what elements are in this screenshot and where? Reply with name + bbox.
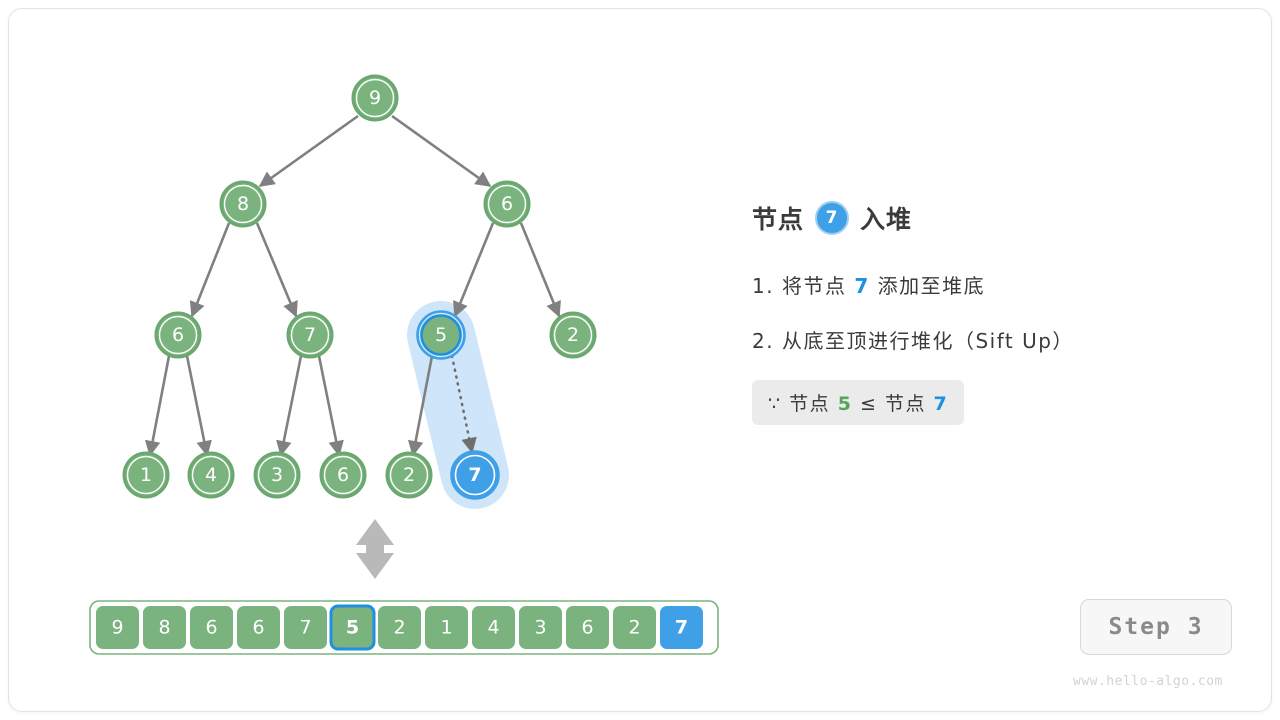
edge-7-3 [281,356,301,455]
panel-title: 节点 7 入堆 [752,200,1222,236]
tree-node-label: 6 [172,324,184,346]
array-cell-label: 8 [158,617,170,639]
array-cell-5[interactable]: 5 [331,606,374,649]
tree-node-label: 3 [271,464,283,486]
panel-title-suffix: 入堆 [860,200,912,236]
tree-node-label: 9 [369,87,381,109]
array-cell-10[interactable]: 6 [566,606,609,649]
step-text-before: 从底至顶进行堆化（Sift Up） [782,329,1074,353]
tree-node-n4[interactable]: 7 [288,313,332,357]
tree-node-label: 8 [237,193,249,215]
edge-6-1 [150,356,169,455]
diagram-stage: 9 8 6 6 7 [0,0,1280,720]
tree-node-label: 6 [337,464,349,486]
array-cell-label: 2 [628,617,640,639]
tree-node-label: 2 [567,324,579,346]
array-cell-label: 7 [299,617,311,639]
note-left-label: 节点 [789,393,830,415]
tree-node-n6[interactable]: 2 [551,313,595,357]
array-cell-label: 6 [252,617,264,639]
edge-7-6b [319,356,339,455]
array-cell-7[interactable]: 1 [425,606,468,649]
tree-node-label: 6 [501,193,513,215]
edge-8-6 [192,223,229,316]
tree-nodes: 9 8 6 6 7 [124,76,595,499]
array-cell-2[interactable]: 6 [190,606,233,649]
edge-6-5 [455,223,493,316]
edge-6-4 [187,356,207,455]
array-cell-label: 6 [581,617,593,639]
explanation-panel: 节点 7 入堆 1. 将节点 7 添加至堆底 2. 从底至顶进行堆化（Sift … [752,200,1222,425]
panel-title-node-badge: 7 [815,201,849,235]
tree-node-n7[interactable]: 1 [124,453,168,497]
array-cell-1[interactable]: 8 [143,606,186,649]
array-cell-label: 4 [487,617,499,639]
step-index: 2. [752,329,774,353]
note-left-value: 5 [838,393,853,415]
tree-node-label: 1 [140,464,152,486]
note-right-value: 7 [934,393,949,415]
edge-8-7 [257,223,296,316]
tree-array-link-arrow [356,519,394,579]
tree-node-n3[interactable]: 6 [156,313,200,357]
edge-9-8 [260,116,358,186]
array-cell-label: 9 [111,617,123,639]
array-cell-0[interactable]: 9 [96,606,139,649]
array-cell-label: 2 [393,617,405,639]
step-list: 1. 将节点 7 添加至堆底 2. 从底至顶进行堆化（Sift Up） ∵ 节点… [752,270,1222,425]
tree-edges [150,116,559,455]
note-symbol: ∵ [768,393,782,415]
step-item-1: 1. 将节点 7 添加至堆底 [752,270,1222,299]
note-operator: ≤ [860,393,877,415]
array-cell-4[interactable]: 7 [284,606,327,649]
array-cell-12[interactable]: 7 [660,606,703,649]
tree-node-n12[interactable]: 7 [452,452,499,499]
tree-node-n2[interactable]: 6 [485,182,529,226]
note-right-label: 节点 [885,393,926,415]
array-cell-3[interactable]: 6 [237,606,280,649]
array-cell-label: 6 [205,617,217,639]
array-cell-11[interactable]: 2 [613,606,656,649]
watermark: www.hello-algo.com [1073,674,1223,689]
step-value: 7 [854,274,869,298]
step-index: 1. [752,274,774,298]
array-cell-label: 1 [440,617,452,639]
tree-node-label: 5 [435,324,447,346]
tree-node-n8[interactable]: 4 [189,453,233,497]
tree-node-label: 7 [304,324,316,346]
tree-node-n5[interactable]: 5 [418,312,465,359]
tree-node-label: 4 [205,464,217,486]
array-cell-label: 3 [534,617,546,639]
comparison-note: ∵ 节点 5 ≤ 节点 7 [752,380,964,425]
tree-node-n9[interactable]: 3 [255,453,299,497]
step-text-before: 将节点 [782,274,847,298]
array-cell-9[interactable]: 3 [519,606,562,649]
array-cell-6[interactable]: 2 [378,606,421,649]
edge-9-6 [392,116,490,186]
tree-node-n0[interactable]: 9 [353,76,397,120]
array-cell-label: 5 [346,617,359,639]
panel-title-prefix: 节点 [752,200,804,236]
tree-node-n1[interactable]: 8 [221,182,265,226]
step-item-2: 2. 从底至顶进行堆化（Sift Up） [752,325,1222,354]
edge-6-2 [521,223,559,316]
tree-node-label: 2 [403,464,415,486]
step-text-after: 添加至堆底 [878,274,986,298]
array-cell-8[interactable]: 4 [472,606,515,649]
tree-node-n11[interactable]: 2 [387,453,431,497]
step-badge: Step 3 [1080,599,1232,655]
tree-node-n10[interactable]: 6 [321,453,365,497]
tree-node-label: 7 [468,464,481,486]
array-cell-label: 7 [675,617,688,639]
